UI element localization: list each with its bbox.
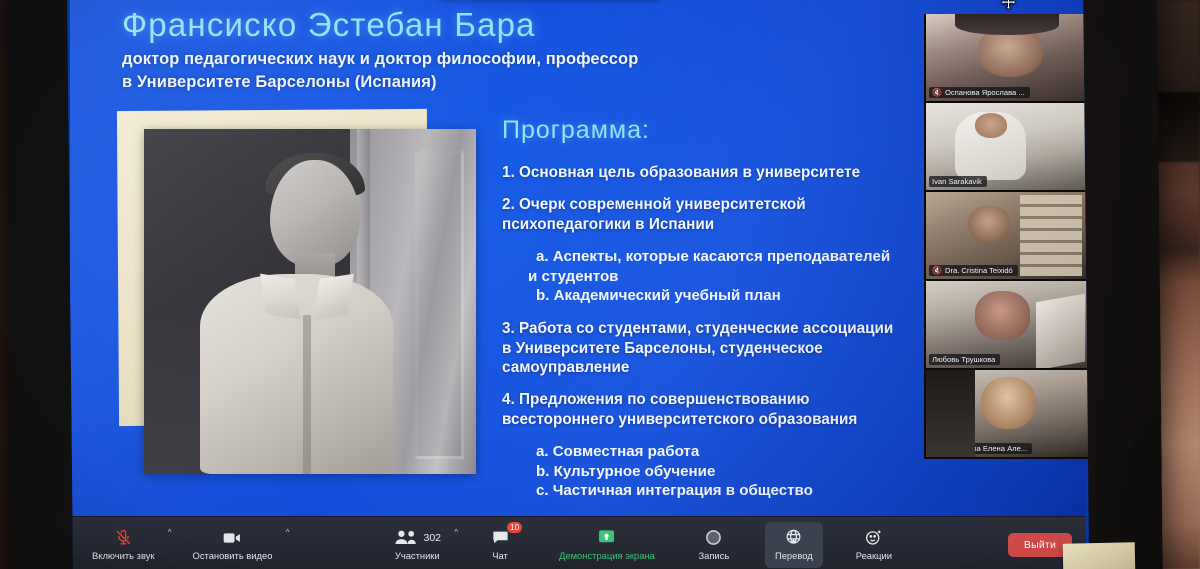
translate-label: Перевод <box>775 550 813 561</box>
program-list: Программа: 1. Основная цель образования … <box>502 116 942 548</box>
microphone-muted-icon <box>115 529 132 547</box>
slide-subtitle-line1: доктор педагогических наук и доктор фило… <box>122 48 638 71</box>
share-screen-button[interactable]: Демонстрация экрана <box>551 522 663 568</box>
program-subitem: a. Аспекты, которые касаются преподавате… <box>536 247 942 267</box>
participant-name-badge: 🔇 Оспанова Ярослава ... <box>929 87 1030 98</box>
participants-label: Участники <box>395 550 440 561</box>
chevron-up-icon[interactable]: ^ <box>286 528 290 537</box>
program-subitem: a. Совместная работа <box>536 442 942 462</box>
program-item: 1. Основная цель образования в университ… <box>502 163 942 182</box>
video-button[interactable]: Остановить видео ^ <box>185 522 281 568</box>
program-subitem: b. Академический учебный план <box>536 286 942 306</box>
reactions-button[interactable]: Реакции <box>845 522 903 568</box>
participant-name-badge: Ivan Sarakavik <box>929 176 987 187</box>
video-label: Остановить видео <box>193 550 273 561</box>
globe-icon <box>784 529 803 547</box>
program-item: 2. Очерк современной университетскойпсих… <box>502 195 942 234</box>
participant-name-badge: 🔇 Смирнова Елена Але... <box>929 443 1032 454</box>
sticky-note <box>1063 542 1136 569</box>
mic-muted-icon: 🔇 <box>932 89 942 97</box>
participant-tile[interactable]: Любовь Трушкова <box>926 281 1088 370</box>
program-item: 3. Работа со студентами, студенческие ас… <box>502 319 942 377</box>
smiley-icon <box>864 529 883 547</box>
people-icon: 302 <box>394 529 442 547</box>
participant-name: Любовь Трушкова <box>932 355 995 364</box>
participant-name: Оспанова Ярослава ... <box>945 88 1025 97</box>
translate-button[interactable]: Перевод <box>765 522 823 568</box>
mute-label: Включить звук <box>92 550 155 561</box>
chat-unread-badge: 10 <box>506 521 523 534</box>
participant-tile[interactable]: 🔇 Dra. Cristina Teixidó <box>926 192 1088 281</box>
chat-label: Чат <box>492 550 508 561</box>
speaker-portrait <box>118 110 478 480</box>
participant-name-badge: 🔇 Dra. Cristina Teixidó <box>929 265 1018 276</box>
participant-tile[interactable]: 🔇 Смирнова Елена Але... <box>926 370 1088 459</box>
program-heading: Программа: <box>502 116 942 145</box>
participants-button[interactable]: 302 Участники ^ <box>386 522 450 568</box>
slide-title: Франсиско Эстебан Бара <box>122 6 536 44</box>
participant-filmstrip[interactable]: 🔇 Оспанова Ярослава ... Ivan Sarakavik 🔇… <box>924 14 1086 459</box>
move-cursor <box>1000 0 1017 11</box>
participant-name: Dra. Cristina Teixidó <box>945 266 1013 275</box>
participant-name: Смирнова Елена Але... <box>945 444 1027 453</box>
portrait-photo <box>144 129 476 474</box>
share-screen-label: Демонстрация экрана <box>559 550 655 561</box>
record-label: Запись <box>698 550 729 561</box>
camera-icon <box>222 529 242 547</box>
mic-muted-icon: 🔇 <box>932 267 942 275</box>
program-item: 4. Предложения по совершенствованиювсест… <box>502 390 942 429</box>
slide-subtitle-line2: в Университете Барселоны (Испания) <box>122 71 638 94</box>
program-subitem: b. Культурное обучение <box>536 462 942 482</box>
share-screen-icon <box>597 529 616 547</box>
zoom-control-bar[interactable]: Включить звук ^ Остановить видео ^ <box>70 516 1086 569</box>
mic-muted-icon: 🔇 <box>932 445 942 453</box>
photo-of-monitor-scene: Франсиско Эстебан Бара доктор педагогиче… <box>0 0 1200 569</box>
participant-name: Ivan Sarakavik <box>932 177 982 186</box>
participants-count: 302 <box>424 532 442 544</box>
participant-tile[interactable]: 🔇 Оспанова Ярослава ... <box>926 14 1088 103</box>
record-circle-icon <box>704 529 723 547</box>
participant-name-badge: Любовь Трушкова <box>929 354 1000 365</box>
monitor-screen: Франсиско Эстебан Бара доктор педагогиче… <box>67 0 1089 569</box>
program-subitem: и студентов <box>528 267 942 287</box>
chevron-up-icon[interactable]: ^ <box>454 528 458 537</box>
reactions-label: Реакции <box>856 550 892 561</box>
program-subitem: c. Частичная интеграция в общество <box>536 481 942 501</box>
slide-subtitle: доктор педагогических наук и доктор фило… <box>122 48 638 94</box>
participant-tile[interactable]: Ivan Sarakavik <box>926 103 1088 192</box>
chat-button[interactable]: Чат 10 <box>471 522 529 568</box>
chevron-up-icon[interactable]: ^ <box>168 528 172 537</box>
record-button[interactable]: Запись <box>685 522 743 568</box>
mute-button[interactable]: Включить звук ^ <box>84 522 163 568</box>
